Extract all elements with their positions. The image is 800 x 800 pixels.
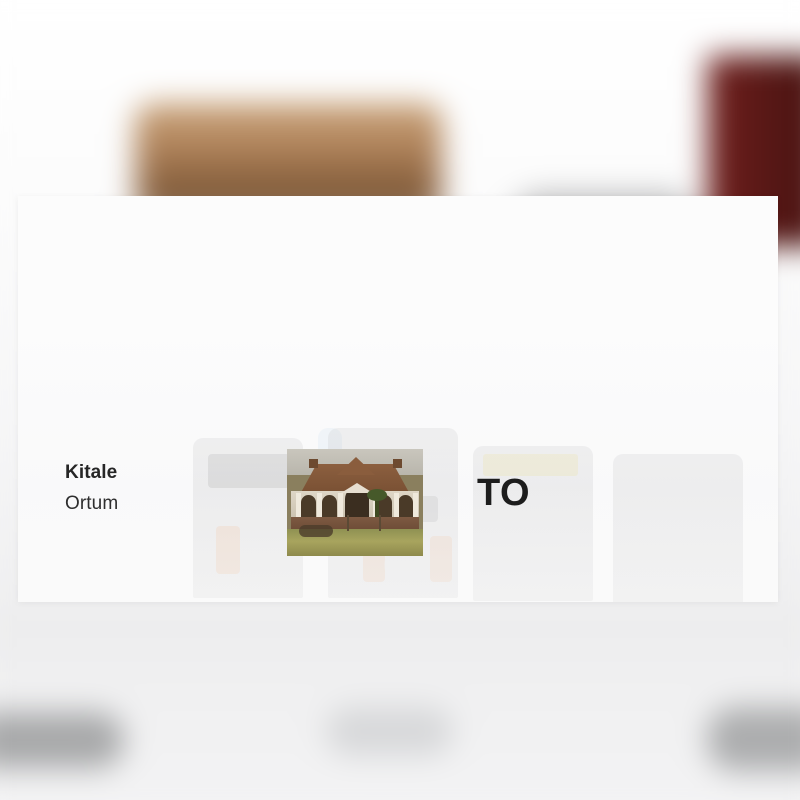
photo-chimney-left: [309, 459, 318, 468]
photo-chimney-right: [393, 459, 402, 468]
route-origin-label: Kitale: [65, 462, 117, 484]
screenshot-stage: Kitale Ortum: [0, 0, 800, 800]
photo-column-1: [296, 493, 301, 519]
backdrop-lower-right-blob: [707, 707, 800, 771]
photo-arch-2: [322, 495, 337, 517]
photo-arch-4: [398, 495, 413, 517]
photo-arch-1: [301, 495, 316, 517]
route-connector-label: TO: [477, 472, 530, 515]
destination-color-swatch: [604, 425, 737, 553]
photo-fence-post-2: [379, 515, 381, 531]
backdrop-lower-wash: [0, 612, 800, 800]
photo-foreground-object: [299, 525, 333, 537]
photo-column-6: [413, 493, 418, 519]
route-destination-label: Ortum: [65, 493, 118, 515]
destination-photo: [287, 449, 423, 556]
fare-update-card: Kitale Ortum: [18, 196, 778, 602]
photo-palm-fronds: [367, 489, 387, 501]
photo-column-3: [338, 493, 343, 519]
backdrop-lower-center-blob: [326, 707, 453, 756]
card-content: Kitale Ortum: [18, 196, 778, 602]
photo-column-5: [394, 493, 399, 519]
photo-column-2: [317, 493, 322, 519]
backdrop-lower-left-blob: [0, 713, 124, 768]
photo-fence-post-1: [347, 515, 349, 531]
